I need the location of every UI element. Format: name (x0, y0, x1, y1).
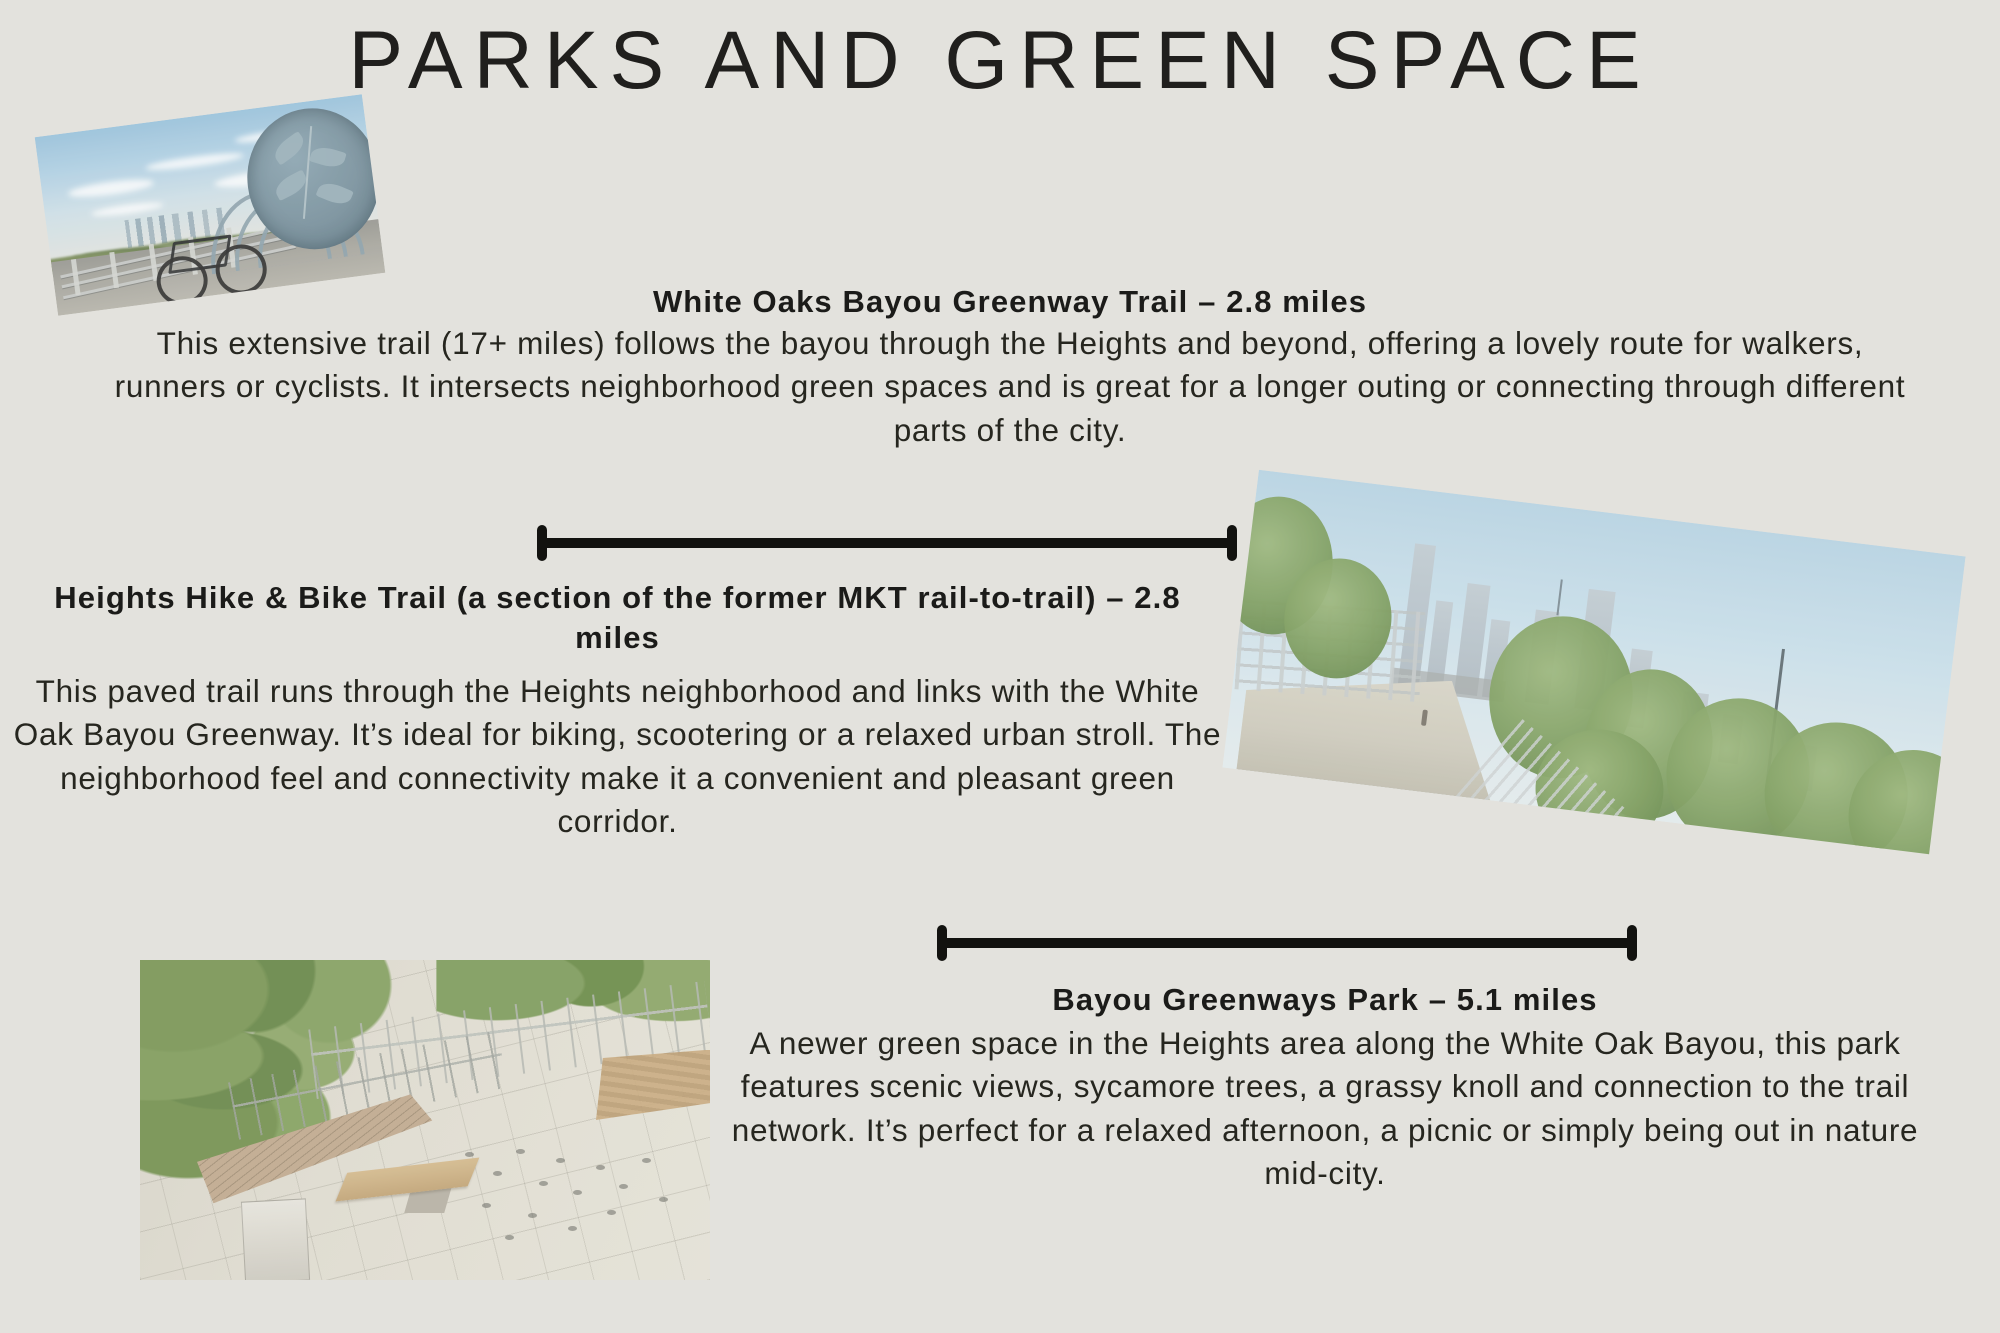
leaf-icon (270, 131, 309, 166)
paving-dot (528, 1213, 537, 1218)
page-title: PARKS AND GREEN SPACE (0, 18, 2000, 104)
section-1-body: This extensive trail (17+ miles) follows… (100, 322, 1920, 452)
utility-box (240, 1198, 309, 1280)
paving-dot (659, 1197, 668, 1202)
poster-canvas: PARKS AND GREEN SPACE (0, 0, 2000, 1333)
paving-dot (568, 1226, 577, 1231)
section-2-body: This paved trail runs through the Height… (10, 670, 1225, 844)
section-3-body: A newer green space in the Heights area … (700, 1022, 1950, 1196)
paving-dot (539, 1181, 548, 1186)
photo-park-plaza-aerial (140, 960, 710, 1280)
section-1-heading: White Oaks Bayou Greenway Trail – 2.8 mi… (100, 282, 1920, 322)
paving-dot (516, 1149, 525, 1154)
paving-dot (607, 1210, 616, 1215)
leaf-icon (309, 144, 347, 171)
leaf-stem (303, 126, 312, 219)
paving-dot (596, 1165, 605, 1170)
paving-dot (619, 1184, 628, 1189)
paving-dot (465, 1152, 474, 1157)
section-3-heading: Bayou Greenways Park – 5.1 miles (700, 980, 1950, 1020)
photo-2-scene (1222, 470, 1965, 855)
divider-after-section-1 (537, 538, 1237, 548)
photo-trail-skyline (1222, 470, 1965, 855)
section-2-heading: Heights Hike & Bike Trail (a section of … (10, 578, 1225, 659)
divider-after-section-2 (937, 938, 1637, 948)
leaf-icon (316, 179, 355, 209)
photo-3-scene (140, 960, 710, 1280)
